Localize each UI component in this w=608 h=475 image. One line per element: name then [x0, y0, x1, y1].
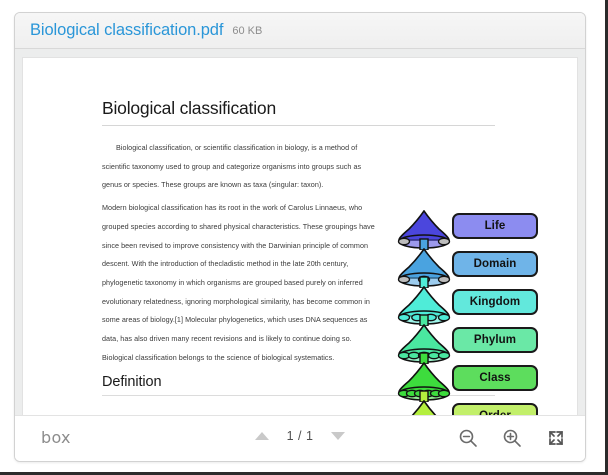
- file-size-label: 60 KB: [232, 25, 262, 37]
- taxonomy-rank-row: Class: [391, 362, 543, 400]
- taxonomy-rank-label: Domain: [452, 251, 538, 277]
- taxonomy-cone-icon: [391, 324, 457, 364]
- box-brand-logo: box: [41, 428, 71, 447]
- taxonomy-rank-label: Life: [452, 213, 538, 239]
- taxonomy-cone-icon: [391, 210, 457, 250]
- page-indicator: 1 / 1: [283, 429, 317, 443]
- zoom-out-icon[interactable]: [457, 427, 479, 449]
- viewer-tools: [457, 427, 567, 449]
- document-title: Biological classification: [102, 98, 562, 119]
- taxonomy-rank-row: Phylum: [391, 324, 543, 362]
- taxonomy-cone-icon: [391, 286, 457, 326]
- document-page: Biological classification Biological cla…: [22, 57, 578, 415]
- preview-header: Biological classification.pdf 60 KB: [15, 13, 585, 49]
- taxonomy-rank-row: Order: [391, 400, 543, 415]
- file-preview-panel: Biological classification.pdf 60 KB Biol…: [14, 12, 586, 462]
- viewer-toolbar: box 1 / 1: [15, 415, 585, 461]
- taxonomy-rank-label: Class: [452, 365, 538, 391]
- fullscreen-icon[interactable]: [545, 427, 567, 449]
- taxonomy-rank-label: Order: [452, 403, 538, 415]
- previous-page-icon[interactable]: [255, 432, 269, 440]
- document-body-column: Biological classification, or scientific…: [102, 139, 382, 367]
- taxonomy-rank-label: Kingdom: [452, 289, 538, 315]
- screenshot-frame: Biological classification.pdf 60 KB Biol…: [0, 0, 608, 475]
- file-name-link[interactable]: Biological classification.pdf: [30, 21, 223, 40]
- paragraph-history: Modern biological classification has its…: [102, 199, 382, 367]
- next-page-icon[interactable]: [331, 432, 345, 440]
- document-viewer[interactable]: Biological classification Biological cla…: [15, 49, 585, 415]
- title-divider: [102, 125, 495, 126]
- taxonomy-rank-label: Phylum: [452, 327, 538, 353]
- taxonomy-cone-icon: [391, 400, 457, 415]
- taxonomy-figure: LifeDomainKingdomPhylumClassOrderFamily: [391, 210, 543, 415]
- taxonomy-rank-row: Life: [391, 210, 543, 248]
- paragraph-intro: Biological classification, or scientific…: [102, 139, 382, 195]
- zoom-in-icon[interactable]: [501, 427, 523, 449]
- taxonomy-rank-row: Domain: [391, 248, 543, 286]
- taxonomy-cone-icon: [391, 248, 457, 288]
- taxonomy-rank-row: Kingdom: [391, 286, 543, 324]
- taxonomy-cone-icon: [391, 362, 457, 402]
